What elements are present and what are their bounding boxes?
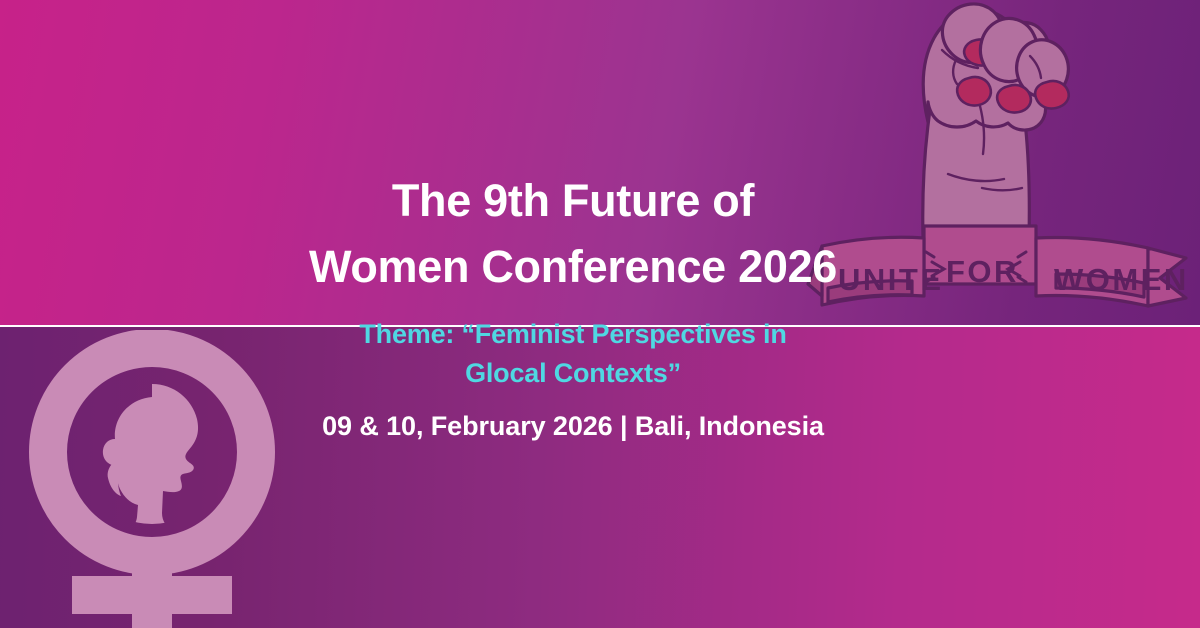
date-and-location: 09 & 10, February 2026 | Bali, Indonesia xyxy=(170,411,976,442)
conference-banner: UNITE FOR WOMEN The 9th Future of Women … xyxy=(0,0,1200,628)
page-title: The 9th Future of Women Conference 2026 xyxy=(170,168,976,299)
ribbon-text-women: WOMEN xyxy=(1054,262,1189,297)
banner-text-block: The 9th Future of Women Conference 2026 … xyxy=(170,168,976,442)
conference-theme: Theme: “Feminist Perspectives in Glocal … xyxy=(170,315,976,392)
